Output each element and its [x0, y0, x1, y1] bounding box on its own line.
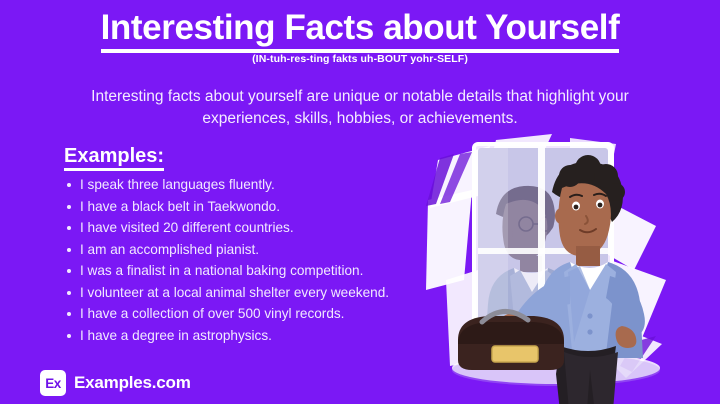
examples-logo-icon: Ex [40, 370, 66, 396]
person-looking-in-mirror-illustration [420, 130, 720, 404]
brand-logo[interactable]: Ex Examples.com [40, 370, 191, 396]
examples-heading: Examples: [64, 144, 164, 171]
brand-name: Examples.com [74, 373, 191, 393]
examples-list: I speak three languages fluently. I have… [66, 174, 438, 346]
page-title-container: Interesting Facts about Yourself [0, 8, 720, 53]
list-item: I was a finalist in a national baking co… [66, 260, 438, 282]
list-item: I have a black belt in Taekwondo. [66, 196, 438, 218]
list-item: I volunteer at a local animal shelter ev… [66, 282, 438, 304]
definition-text: Interesting facts about yourself are uni… [62, 86, 658, 130]
pronunciation-guide: (IN-tuh-res-ting fakts uh-BOUT yohr-SELF… [0, 53, 720, 65]
duffel-bag [458, 311, 564, 370]
list-item: I have a degree in astrophysics. [66, 325, 438, 347]
list-item: I am an accomplished pianist. [66, 239, 438, 261]
list-item: I have visited 20 different countries. [66, 217, 438, 239]
list-item: I speak three languages fluently. [66, 174, 438, 196]
poster-canvas: Interesting Facts about Yourself (IN-tuh… [0, 0, 720, 404]
page-title: Interesting Facts about Yourself [101, 8, 620, 53]
list-item: I have a collection of over 500 vinyl re… [66, 303, 438, 325]
